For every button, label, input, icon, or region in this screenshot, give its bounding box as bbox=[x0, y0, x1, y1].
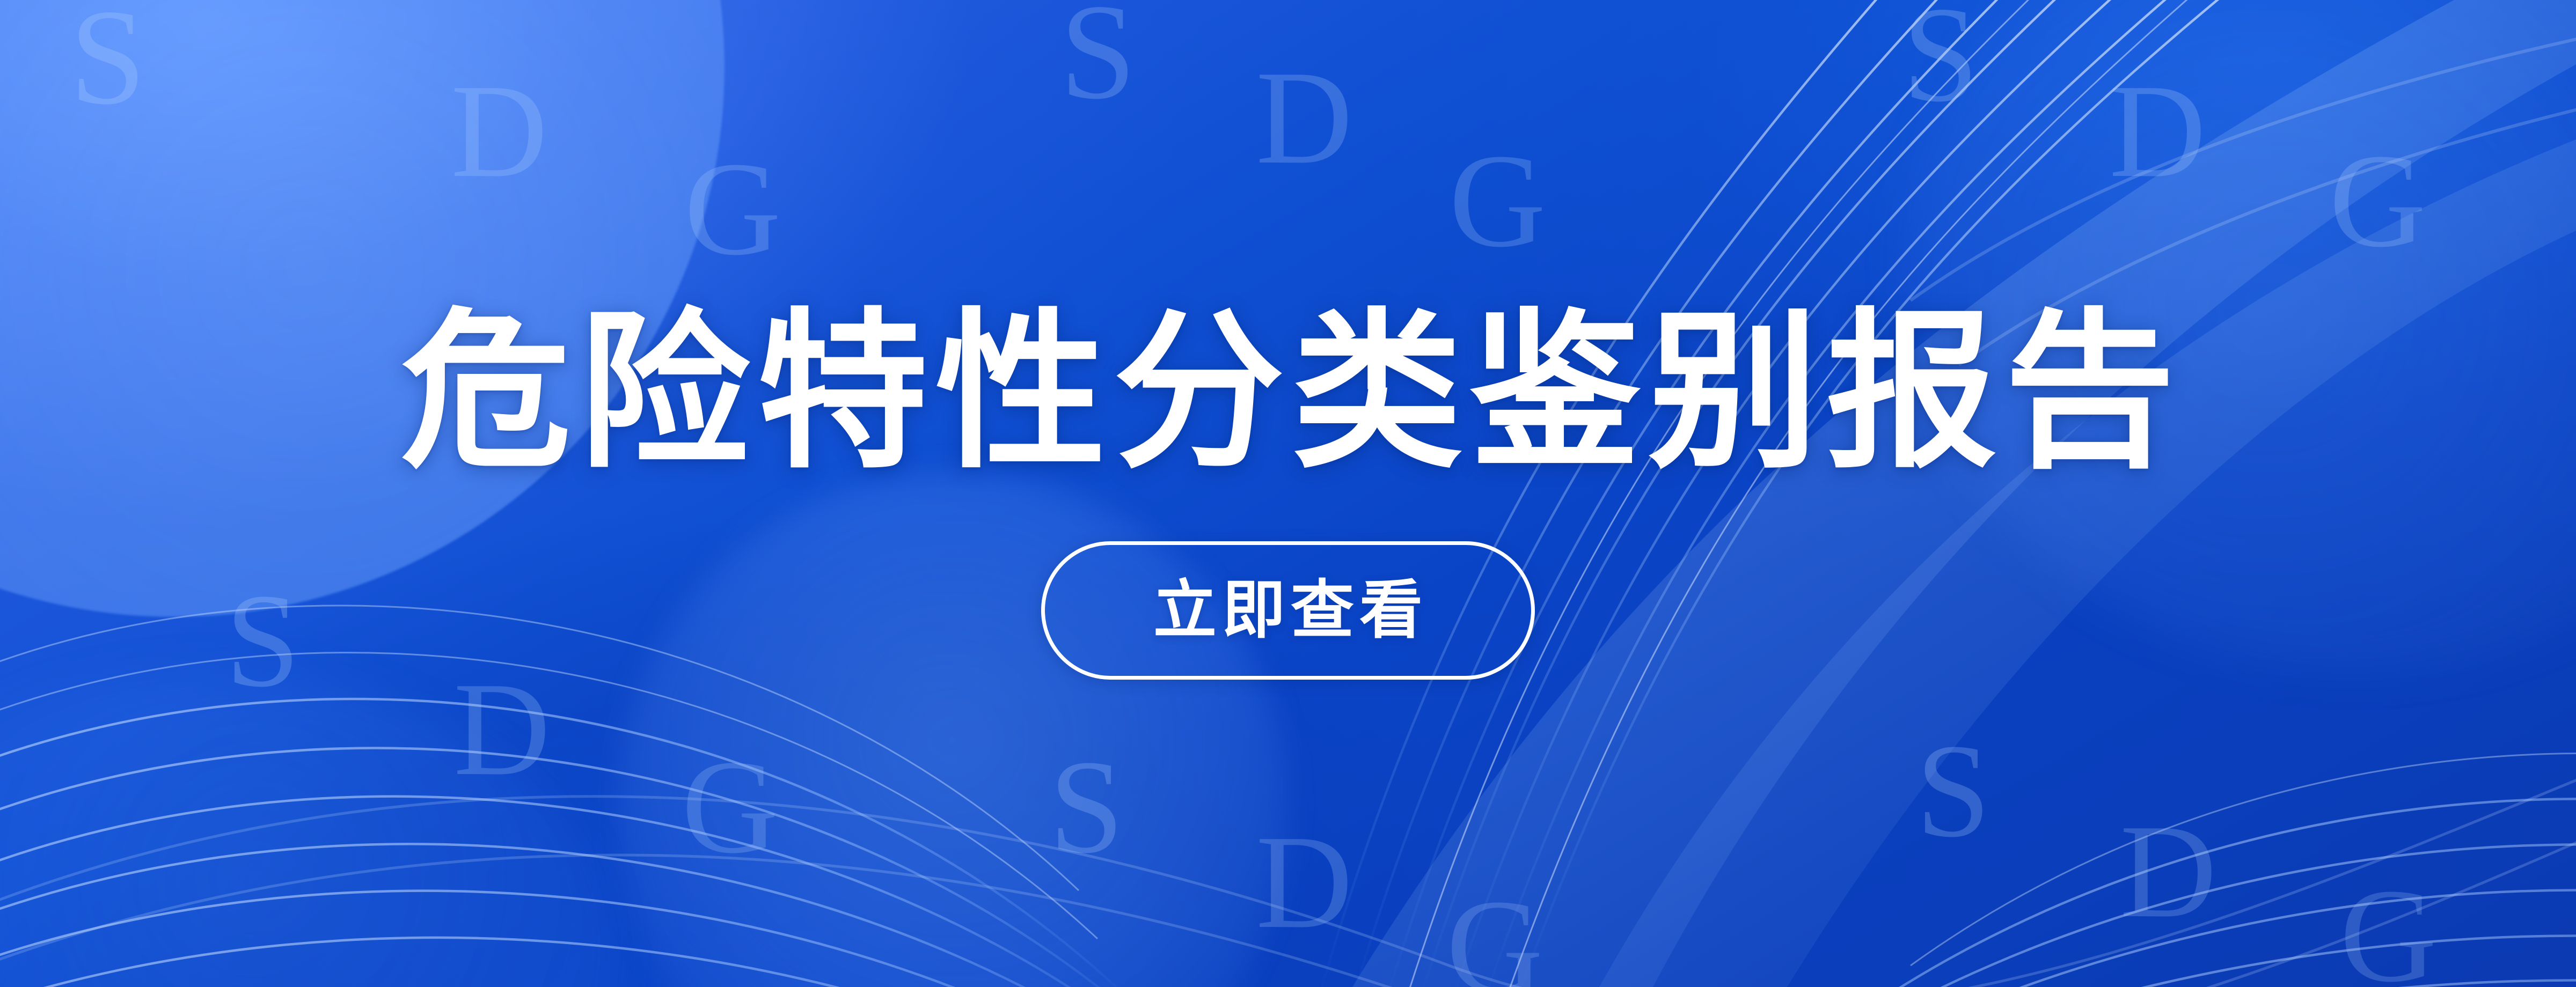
page-title: 危险特性分类鉴别报告 bbox=[401, 307, 2183, 478]
view-now-button[interactable]: 立即查看 bbox=[1041, 541, 1535, 680]
cta-container: 立即查看 bbox=[0, 541, 2576, 680]
banner-content: 危险特性分类鉴别报告 立即查看 bbox=[0, 0, 2576, 987]
hero-banner: SDGSDGSDGSDGSDGSDG 危险特性分类鉴别报告 立即查看 bbox=[0, 0, 2576, 987]
